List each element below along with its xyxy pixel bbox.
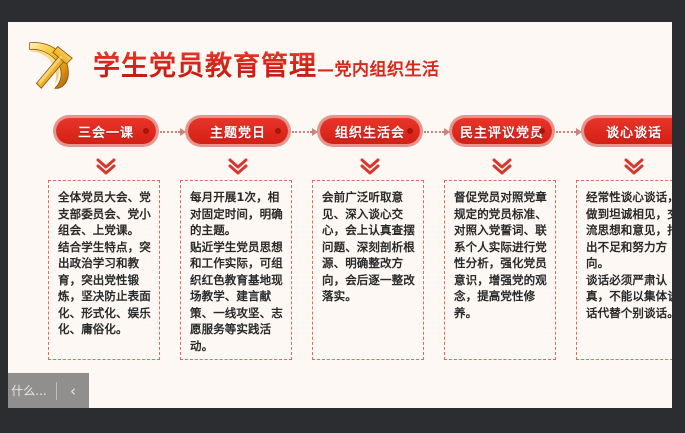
page-title-main: 学生党员教育管理	[93, 51, 317, 82]
connector-arrow-2	[424, 130, 450, 133]
description-card-0: 全体党员大会、党支部委员会、党小组会、上党课。 结合学生特点，突出政治学习和教育…	[48, 180, 160, 360]
description-card-text-4: 经常性谈心谈话，做到坦诚相见，交流思想和意见，指出不足和努力方向。 谈话必须严肃…	[586, 189, 672, 321]
page-title: 学生党员教育管理—党内组织生活	[93, 44, 440, 83]
overlay-control-bar[interactable]: 什么... ‹	[8, 373, 89, 408]
description-card-4: 经常性谈心谈话，做到坦诚相见，交流思想和意见，指出不足和努力方向。 谈话必须严肃…	[576, 180, 672, 360]
arrow-head-icon-3	[576, 128, 582, 136]
connector-arrow-1	[292, 130, 318, 133]
arrow-head-icon-1	[312, 128, 318, 136]
chevron-down-icon-4	[621, 156, 647, 176]
cpc-hammer-sickle-icon	[18, 34, 80, 96]
chevron-down-icon-2	[357, 156, 383, 176]
process-step-pill-2[interactable]: 组织生活会	[320, 118, 420, 144]
description-card-2: 会前广泛听取意见、深入谈心交心，会上认真查摆问题、深刻剖析根源、明确整改方向，会…	[312, 180, 424, 360]
process-step-4[interactable]: 谈心谈话	[584, 118, 672, 148]
process-step-pill-0[interactable]: 三会一课	[56, 118, 156, 144]
description-card-3: 督促党员对照党章规定的党员标准、对照入党誓词、联系个人实际进行党性分析，强化党员…	[444, 180, 556, 360]
arrow-head-icon-0	[180, 128, 186, 136]
chevron-down-icon-3	[489, 156, 515, 176]
description-card-text-0: 全体党员大会、党支部委员会、党小组会、上党课。 结合学生特点，突出政治学习和教育…	[58, 189, 152, 338]
connector-arrow-0	[160, 130, 186, 133]
connector-arrow-3	[556, 130, 582, 133]
process-step-label-2: 组织生活会	[335, 122, 405, 141]
process-step-pill-1[interactable]: 主题党日	[188, 118, 288, 144]
arrow-head-icon-2	[444, 128, 450, 136]
chevron-down-icon-1	[225, 156, 251, 176]
pill-dot-icon-2	[407, 128, 413, 134]
process-step-1[interactable]: 主题党日	[188, 118, 288, 148]
process-step-0[interactable]: 三会一课	[56, 118, 156, 148]
process-step-label-4: 谈心谈话	[606, 122, 662, 141]
back-button[interactable]: ‹	[57, 373, 89, 408]
process-step-pill-4[interactable]: 谈心谈话	[584, 118, 672, 144]
chevron-down-icon-0	[93, 156, 119, 176]
pill-dot-icon-1	[275, 128, 281, 134]
process-step-pill-3[interactable]: 民主评议党员	[452, 118, 552, 144]
description-card-text-2: 会前广泛听取意见、深入谈心交心，会上认真查摆问题、深刻剖析根源、明确整改方向，会…	[322, 189, 416, 305]
slide-header: 学生党员教育管理—党内组织生活	[8, 22, 672, 108]
process-step-row: 三会一课 主题党日 组织生活会	[8, 118, 672, 150]
page-title-subtitle: —党内组织生活	[317, 60, 440, 80]
description-card-text-3: 督促党员对照党章规定的党员标准、对照入党誓词、联系个人实际进行党性分析，强化党员…	[454, 189, 548, 321]
process-step-label-0: 三会一课	[78, 122, 134, 141]
pill-dot-icon-0	[143, 128, 149, 134]
screen-root: 学生党员教育管理—党内组织生活 三会一课 主题党日	[0, 0, 685, 433]
description-card-1: 每月开展1次，相对固定时间，明确的主题。 贴近学生党员思想和工作实际，可组织红色…	[180, 180, 292, 360]
slide-canvas: 学生党员教育管理—党内组织生活 三会一课 主题党日	[8, 22, 672, 408]
description-card-text-1: 每月开展1次，相对固定时间，明确的主题。 贴近学生党员思想和工作实际，可组织红色…	[190, 189, 284, 354]
pill-dot-icon-3	[539, 128, 545, 134]
control-bar-truncated-label[interactable]: 什么...	[8, 373, 56, 408]
process-step-label-1: 主题党日	[210, 122, 266, 141]
process-step-2[interactable]: 组织生活会	[320, 118, 420, 148]
process-step-3[interactable]: 民主评议党员	[452, 118, 552, 148]
process-step-label-3: 民主评议党员	[460, 122, 544, 141]
